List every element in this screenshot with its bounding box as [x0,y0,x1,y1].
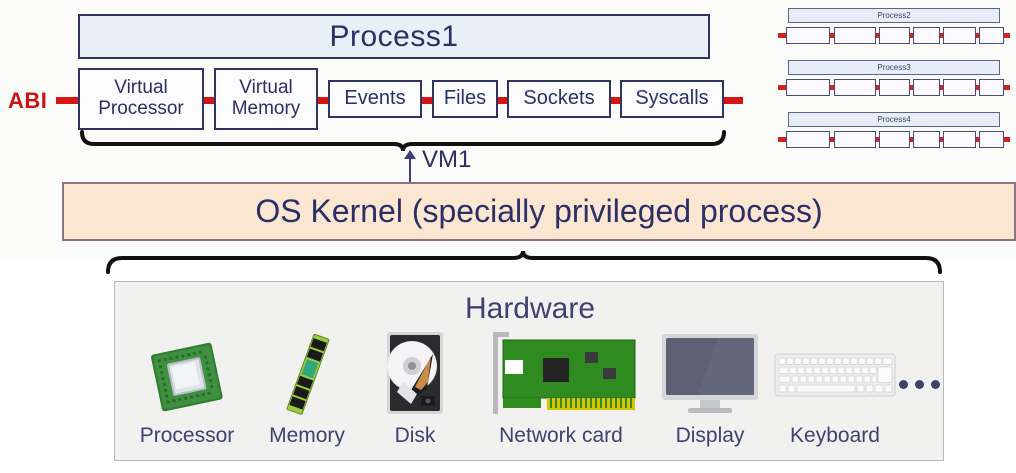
hardware-title: Hardware [115,292,945,326]
abi-line1: Virtual [114,77,168,98]
network-card-icon [467,330,655,416]
hardware-item-network-card[interactable]: Network card [467,330,655,448]
hardware-label-network-card: Network card [467,424,655,448]
process1-title-bar: Process1 [78,14,710,59]
hardware-more-ellipsis-icon [899,380,940,389]
mini-process-group-2[interactable]: Process2 [778,8,1010,44]
mini-process-title-4: Process4 [788,112,1000,127]
abi-line2: Processor [98,98,184,119]
hard-disk-icon [363,330,467,416]
hardware-label-processor: Processor [123,424,251,448]
diagram-canvas: Process1 ABI Virtual Processor Virtual M… [0,0,1016,473]
hardware-label-keyboard: Keyboard [765,424,905,448]
ram-stick-icon [251,330,363,416]
hardware-panel: Hardware [114,281,944,461]
vm1-brace [78,130,728,152]
mini-process-title-3: Process3 [788,60,1000,75]
abi-box-virtual-memory-label: Virtual Memory [232,78,301,119]
mini-process-group-4[interactable]: Process4 [778,112,1010,148]
hardware-item-memory[interactable]: Memory [251,330,363,448]
hardware-item-display[interactable]: Display [645,330,775,448]
vm1-arrow-head [404,150,416,159]
abi-box-files[interactable]: Files [432,80,498,118]
hardware-item-processor[interactable]: Processor [123,330,251,448]
abi-box-events-label: Events [344,88,405,110]
mini-process-group-3[interactable]: Process3 [778,60,1010,96]
mini-process-row-3 [778,79,1010,96]
mini-process-row-2 [778,27,1010,44]
hardware-item-disk[interactable]: Disk [363,330,467,448]
vm1-label: VM1 [422,146,471,174]
abi-box-sockets[interactable]: Sockets [507,80,611,118]
abi-box-virtual-memory[interactable]: Virtual Memory [214,68,318,130]
abi-box-virtual-processor[interactable]: Virtual Processor [78,68,204,130]
abi-box-events[interactable]: Events [328,80,422,118]
abi-box-files-label: Files [444,88,486,110]
abi-connector-0 [56,97,80,104]
hardware-label-display: Display [645,424,775,448]
hardware-brace [104,250,944,274]
monitor-icon [645,330,775,416]
keyboard-icon [765,330,905,416]
abi-box-sockets-label: Sockets [523,88,594,110]
cpu-icon [123,330,251,416]
mini-process-title-2: Process2 [788,8,1000,23]
hardware-label-memory: Memory [251,424,363,448]
os-kernel-label: OS Kernel (specially privileged process) [255,193,822,230]
abi-label: ABI [8,88,47,114]
hardware-label-disk: Disk [363,424,467,448]
abi-box-virtual-processor-label: Virtual Processor [98,78,184,119]
abi-line1: Virtual [239,77,293,98]
abi-connector-6 [721,97,743,104]
abi-box-syscalls-label: Syscalls [635,88,708,110]
mini-process-row-4 [778,131,1010,148]
process1-label: Process1 [329,20,458,54]
hardware-item-keyboard[interactable]: Keyboard [765,330,905,448]
abi-box-syscalls[interactable]: Syscalls [620,80,724,118]
os-kernel-bar: OS Kernel (specially privileged process) [62,182,1016,241]
abi-line2: Memory [232,98,301,119]
